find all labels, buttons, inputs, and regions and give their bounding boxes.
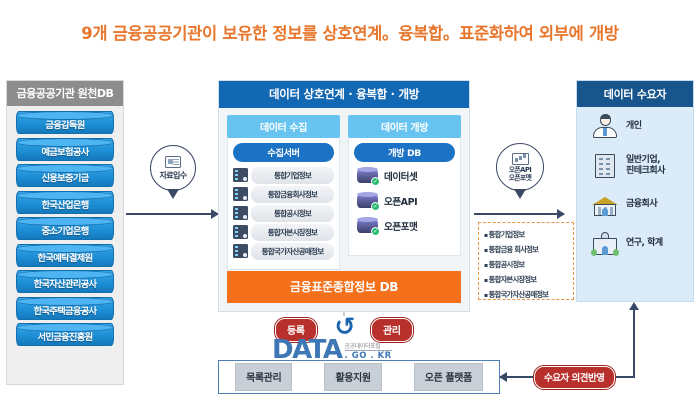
document-icon: [165, 156, 181, 168]
open-dataset-item: 통합기업정보: [484, 228, 570, 243]
standard-db-bar: 금융표준종합정보 DB: [227, 271, 461, 303]
person-icon: [591, 114, 619, 140]
consumer-label-line1: 일반기업,: [626, 155, 660, 165]
consumer-label-line2: 핀테크회사: [626, 166, 665, 176]
consumer-label: 일반기업,핀테크회사: [626, 155, 665, 177]
open-dataset-list: 통합기업정보 통합금융 회사정보 통합공시정보 통합자본시장정보 통합국가자산공…: [478, 222, 574, 300]
flow-arrow-intake: [126, 213, 218, 215]
portal-button-support[interactable]: 활용지원: [324, 363, 381, 391]
server-label: 통합공시정보: [251, 205, 334, 222]
source-db-item[interactable]: 서민금융진흥원: [16, 323, 114, 346]
open-db-row[interactable]: ✓ 오픈포맷: [354, 217, 455, 235]
open-db-label: 오픈포맷: [384, 219, 417, 233]
source-db-item[interactable]: 한국자산관리공사: [16, 270, 114, 293]
server-row[interactable]: 통합국가자산공매정보: [233, 243, 334, 260]
consumer-row-financial[interactable]: 금융회사: [577, 185, 693, 224]
data-open-column: 데이터 개방 개방 DB ✓ 데이터셋 ✓ 오픈API ✓ 오픈포맷: [348, 115, 461, 270]
server-row[interactable]: 통합기업정보: [233, 167, 334, 184]
consumer-label: 개인: [626, 121, 642, 132]
server-label: 통합국가자산공매정보: [251, 243, 334, 260]
server-icon: [233, 168, 248, 182]
database-icon: ✓: [357, 192, 378, 210]
server-icon: [233, 225, 248, 239]
source-db-item-label: 한국주택금융공사: [34, 300, 97, 317]
data-collect-column: 데이터 수집 수집서버 통합기업정보 통합금융회사정보 통합공시정보 통합자: [227, 115, 340, 270]
source-db-item-label: 금융감독원: [45, 114, 84, 131]
consumer-label: 금융회사: [626, 199, 657, 210]
check-icon: ✓: [371, 202, 380, 211]
open-dataset-item: 통합공시정보: [484, 258, 570, 273]
center-integration-panel: 데이터 상호연계 · 융복합 · 개방 데이터 수집 수집서버 통합기업정보 통…: [218, 80, 470, 312]
server-row[interactable]: 통합금융회사정보: [233, 186, 334, 203]
feedback-arrow-vertical: [633, 310, 635, 377]
server-icon: [233, 206, 248, 220]
check-icon: ✓: [371, 177, 380, 186]
database-icon: ✓: [357, 167, 378, 185]
source-db-header: 금융공공기관 원천DB: [7, 81, 123, 106]
flow-arrow-open: [474, 213, 564, 215]
source-db-item[interactable]: 한국주택금융공사: [16, 297, 114, 320]
data-collect-body: 수집서버 통합기업정보 통합금융회사정보 통합공시정보 통합자본시장정보: [227, 138, 340, 271]
consumer-row-individual[interactable]: 개인: [577, 107, 693, 146]
open-api-label-1: 오픈API: [509, 166, 531, 174]
source-db-list: 금융감독원 예금보험공사 신용보증기금 한국산업은행 중소기업은행 한국예탁결제…: [7, 106, 123, 346]
data-consumer-panel: 데이터 수요자 개인 일반기업,핀테크회사 금융회사 연구, 학계: [576, 80, 694, 302]
server-label: 통합기업정보: [251, 167, 334, 184]
open-dataset-item: 통합자본시장정보: [484, 273, 570, 288]
open-db-row[interactable]: ✓ 데이터셋: [354, 167, 455, 185]
center-panel-header: 데이터 상호연계 · 융복합 · 개방: [219, 81, 469, 108]
page-title: 9개 금융공공기관이 보유한 정보를 상호연계。융복합。표준화하여 외부에 개방: [0, 20, 700, 44]
open-api-label-2: 오픈포맷: [509, 174, 532, 182]
collect-server-pill: 수집서버: [233, 143, 334, 163]
source-db-item[interactable]: 신용보증기금: [16, 164, 114, 187]
feedback-label-pill: 수요자 의견반영: [534, 366, 615, 389]
source-db-item[interactable]: 중소기업은행: [16, 217, 114, 240]
source-db-item-label: 한국자산관리공사: [34, 273, 97, 290]
server-icon: [233, 187, 248, 201]
open-db-row[interactable]: ✓ 오픈API: [354, 192, 455, 210]
portal-function-box: 목록관리 활용지원 오픈 플랫폼: [218, 360, 500, 394]
school-icon: [591, 231, 619, 257]
open-db-label: 데이터셋: [384, 169, 417, 183]
logo-sub-block: 공공데이터포털 . GO . KR: [345, 341, 392, 362]
center-columns: 데이터 수집 수집서버 통합기업정보 통합금융회사정보 통합공시정보 통합자: [219, 108, 469, 270]
data-open-title: 데이터 개방: [348, 115, 461, 138]
open-dataset-item: 통합국가자산공매정보: [484, 288, 570, 303]
consumer-label: 연구, 학계: [626, 238, 663, 249]
consumer-row-academia[interactable]: 연구, 학계: [577, 224, 693, 263]
open-db-label: 오픈API: [384, 194, 417, 208]
open-db-pill: 개방 DB: [354, 143, 455, 163]
source-db-item-label: 신용보증기금: [41, 167, 88, 184]
server-label: 통합금융회사정보: [251, 186, 334, 203]
source-db-item[interactable]: 한국산업은행: [16, 191, 114, 214]
source-db-item-label: 서민금융진흥원: [38, 326, 93, 343]
consumer-panel-header: 데이터 수요자: [577, 81, 693, 107]
source-db-panel: 금융공공기관 원천DB 금융감독원 예금보험공사 신용보증기금 한국산업은행 중…: [6, 80, 124, 385]
source-db-item[interactable]: 금융감독원: [16, 111, 114, 134]
open-dataset-item: 통합금융 회사정보: [484, 243, 570, 258]
portal-button-catalog[interactable]: 목록관리: [235, 363, 292, 391]
consumer-row-enterprise[interactable]: 일반기업,핀테크회사: [577, 146, 693, 185]
source-db-item[interactable]: 한국예탁결제원: [16, 244, 114, 267]
data-open-body: 개방 DB ✓ 데이터셋 ✓ 오픈API ✓ 오픈포맷: [348, 138, 461, 256]
logo-sub-top: 공공데이터포털: [345, 341, 392, 352]
source-db-item-label: 한국산업은행: [41, 194, 88, 211]
server-label: 통합자본시장정보: [251, 224, 334, 241]
monitor-chart-icon: [512, 153, 529, 165]
server-icon: [233, 244, 248, 258]
intake-label: 자료입수: [159, 170, 186, 181]
open-api-callout: 오픈API 오픈포맷: [496, 143, 544, 191]
server-row[interactable]: 통합자본시장정보: [233, 224, 334, 241]
source-db-item-label: 한국예탁결제원: [38, 247, 93, 264]
source-db-item-label: 예금보험공사: [41, 141, 88, 158]
intake-callout: 자료입수: [150, 145, 196, 191]
building-icon: [591, 153, 619, 179]
source-db-item-label: 중소기업은행: [41, 220, 88, 237]
check-icon: ✓: [371, 227, 380, 236]
server-row[interactable]: 통합공시정보: [233, 205, 334, 222]
bank-icon: [591, 192, 619, 218]
database-icon: ✓: [357, 217, 378, 235]
portal-button-platform[interactable]: 오픈 플랫폼: [414, 363, 483, 391]
source-db-item[interactable]: 예금보험공사: [16, 138, 114, 161]
data-collect-title: 데이터 수집: [227, 115, 340, 138]
